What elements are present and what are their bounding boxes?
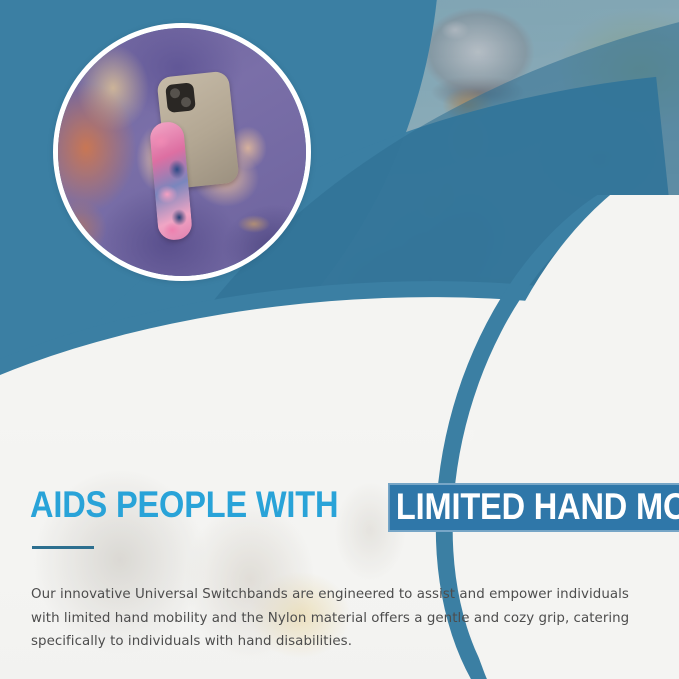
headline-highlighted-segment: LIMITED HAND MOBILITY	[388, 483, 679, 532]
page-headline: AIDS PEOPLE WITH LIMITED HAND MOBILITY	[30, 483, 679, 532]
headline-plain-segment: AIDS PEOPLE WITH	[30, 483, 345, 532]
phone-camera-module-icon	[165, 82, 196, 113]
inset-photo-hand-with-phone	[58, 28, 306, 276]
product-feature-poster: AIDS PEOPLE WITH LIMITED HAND MOBILITY O…	[0, 0, 679, 679]
headline-divider-rule	[32, 546, 94, 549]
faded-frame-3	[600, 538, 658, 586]
circle-inset-closeup-photo	[53, 23, 311, 281]
body-copy-paragraph: Our innovative Universal Switchbands are…	[31, 583, 633, 654]
